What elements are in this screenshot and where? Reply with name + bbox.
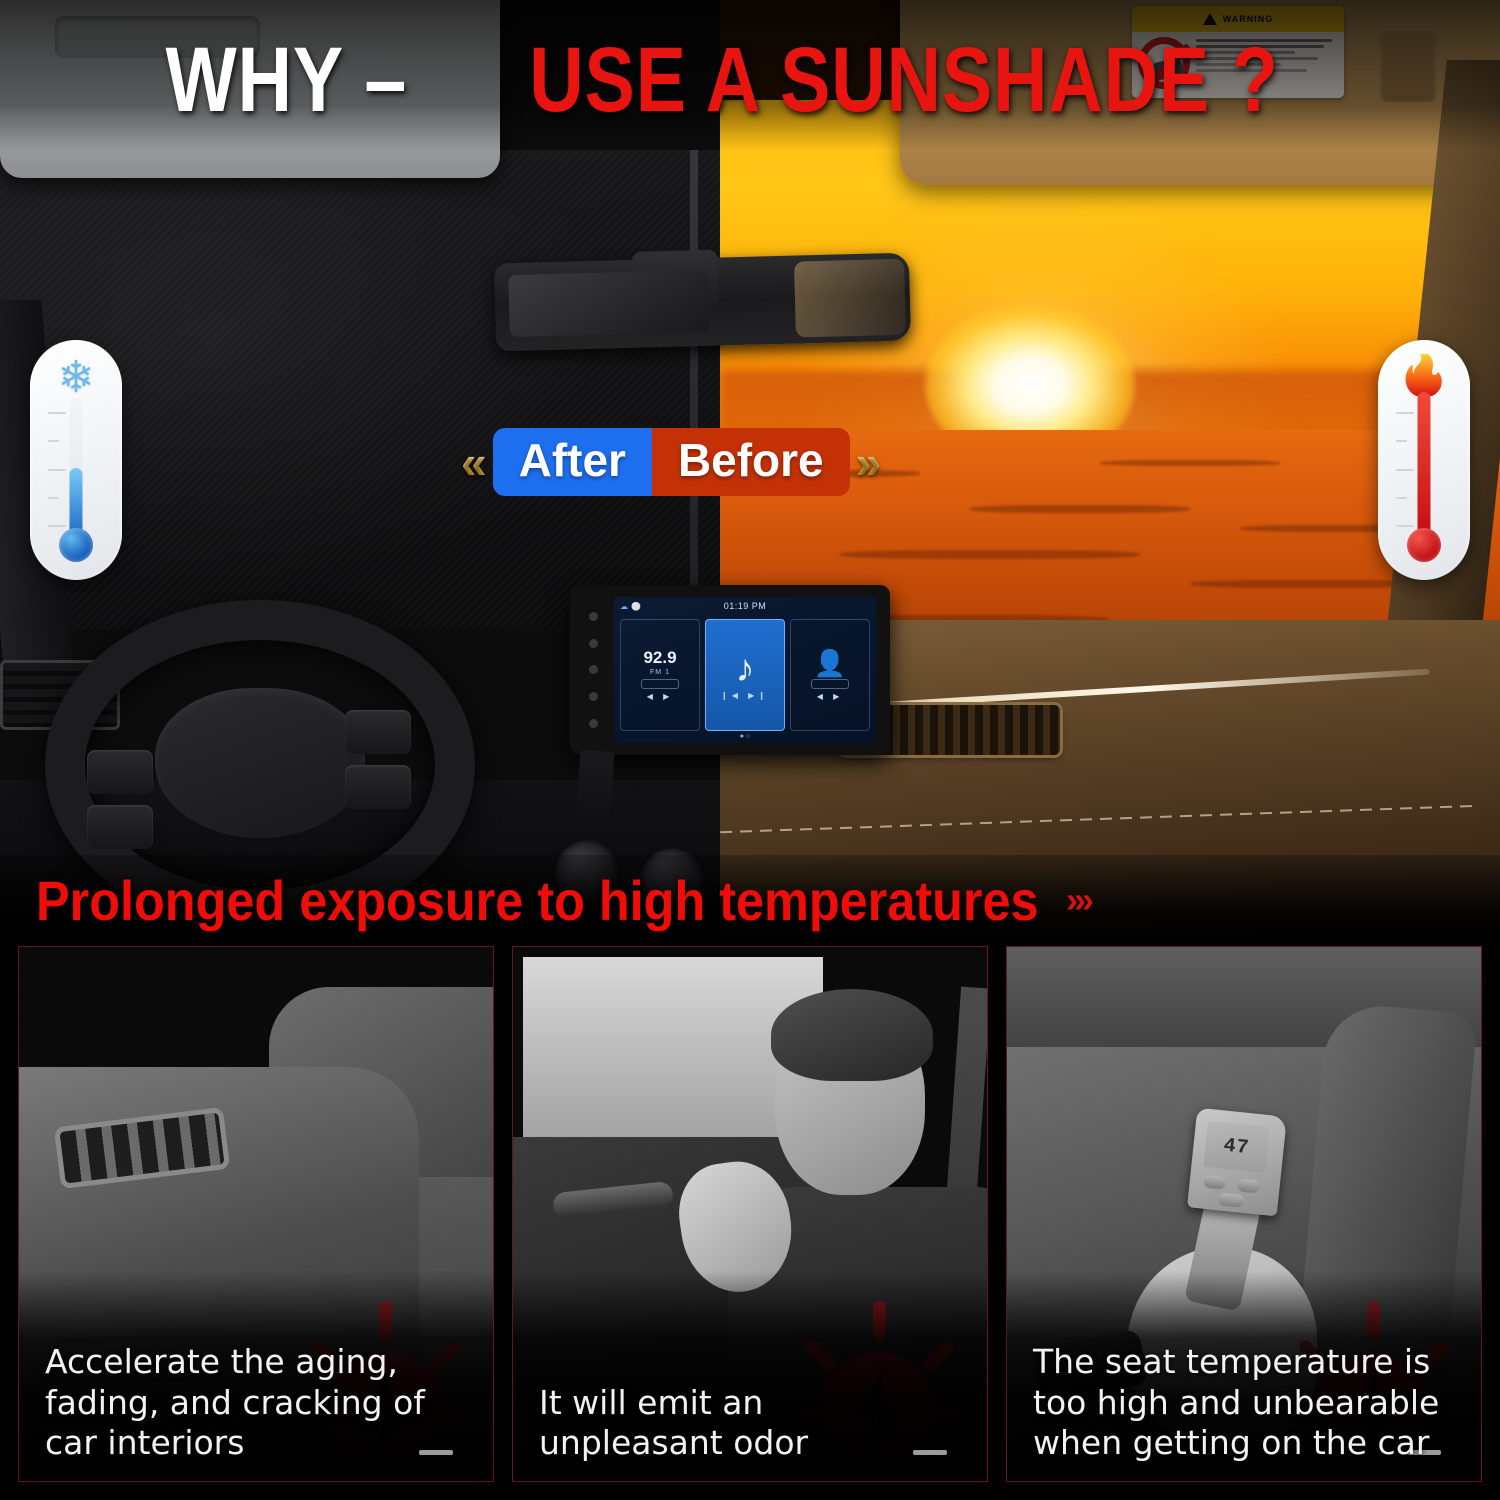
chevron-right-icon: » [850, 439, 888, 485]
panel-unpleasant-odor: It will emit an unpleasant odor [512, 946, 988, 1482]
infrared-thermometer-icon: 47 [1187, 1108, 1287, 1217]
infotainment-head-unit[interactable]: ☁ ⚪ 01:19 PM 92.9 FM 1 ◀ ▶ ♪ ❙◀ ▶❙ [570, 585, 890, 755]
head-unit-status-bar: ☁ ⚪ 01:19 PM [614, 597, 876, 615]
panel-caption: The seat temperature is too high and unb… [1033, 1342, 1451, 1463]
radio-band: FM 1 [650, 669, 670, 676]
thermometer-reading: 47 [1222, 1134, 1250, 1160]
seat-arrows[interactable]: ◀ ▶ [817, 692, 844, 701]
mirror-glass [508, 270, 710, 337]
seat-level-bar[interactable] [811, 679, 849, 689]
menu-button[interactable] [589, 692, 598, 701]
radio-transport-controls[interactable]: ◀ ▶ [647, 692, 674, 701]
before-after-hero: WARNING [0, 0, 1500, 935]
mirror-sun-glare [794, 259, 906, 338]
panel-caption: It will emit an unpleasant odor [539, 1383, 957, 1464]
airbag-hub [155, 688, 365, 838]
snowflake-icon: ❄ [58, 356, 95, 400]
home-button[interactable] [589, 639, 598, 648]
radio-preset-bar[interactable] [641, 679, 679, 689]
thermometer-display: 47 [1203, 1121, 1269, 1173]
radio-tile[interactable]: 92.9 FM 1 ◀ ▶ [620, 619, 700, 731]
after-badge[interactable]: After [493, 428, 652, 496]
bluetooth-icon: ☁ ⚪ [620, 602, 642, 611]
wheel-button-left2 [87, 805, 153, 849]
head-unit-clock: 01:19 PM [724, 601, 767, 611]
before-after-badges: « After Before » [455, 428, 887, 496]
seat-climate-tile[interactable]: 👤 ◀ ▶ [790, 619, 870, 731]
title-scrim [0, 0, 1500, 150]
power-button[interactable] [589, 612, 598, 621]
mid-headline-band: Prolonged exposure to high temperatures … [0, 855, 1500, 945]
head-unit-tiles: 92.9 FM 1 ◀ ▶ ♪ ❙◀ ▶❙ 👤 ◀ ▶ [614, 615, 876, 731]
hot-thermometer: 🔥 [1378, 340, 1470, 580]
cold-thermometer: ❄ [30, 340, 122, 580]
media-tile[interactable]: ♪ ❙◀ ▶❙ [705, 619, 785, 731]
eject-button[interactable] [589, 719, 598, 728]
media-transport-controls[interactable]: ❙◀ ▶❙ [721, 691, 769, 700]
seat-person-icon: 👤 [814, 650, 846, 676]
head-unit-screen[interactable]: ☁ ⚪ 01:19 PM 92.9 FM 1 ◀ ▶ ♪ ❙◀ ▶❙ [614, 597, 876, 743]
chevron-left-icon: « [455, 439, 493, 485]
before-badge[interactable]: Before [652, 428, 850, 496]
panel-interior-aging: Accelerate the aging, fading, and cracki… [18, 946, 494, 1482]
wheel-button-right2 [345, 765, 411, 809]
infographic-page: WARNING [0, 0, 1500, 1500]
wheel-button-left [87, 750, 153, 794]
head-unit-mount-bracket [576, 750, 615, 824]
rearview-mirror [494, 253, 911, 352]
wheel-button-right [345, 710, 411, 754]
mid-headline: Prolonged exposure to high temperatures [36, 868, 1039, 933]
volume-button[interactable] [589, 665, 598, 674]
panel-seat-temperature: 47 [1006, 946, 1482, 1482]
radio-frequency: 92.9 [643, 649, 676, 666]
reasons-panel-row: Accelerate the aging, fading, and cracki… [0, 946, 1500, 1500]
page-indicator-dots: ● ○ [614, 733, 876, 740]
music-note-icon: ♪ [736, 650, 755, 688]
mid-chevrons-icon: ››› [1066, 879, 1090, 921]
head-unit-side-buttons[interactable] [580, 603, 606, 737]
panel-caption: Accelerate the aging, fading, and cracki… [45, 1342, 463, 1463]
flame-icon: 🔥 [1398, 354, 1450, 396]
sunshade-edge [690, 150, 698, 630]
